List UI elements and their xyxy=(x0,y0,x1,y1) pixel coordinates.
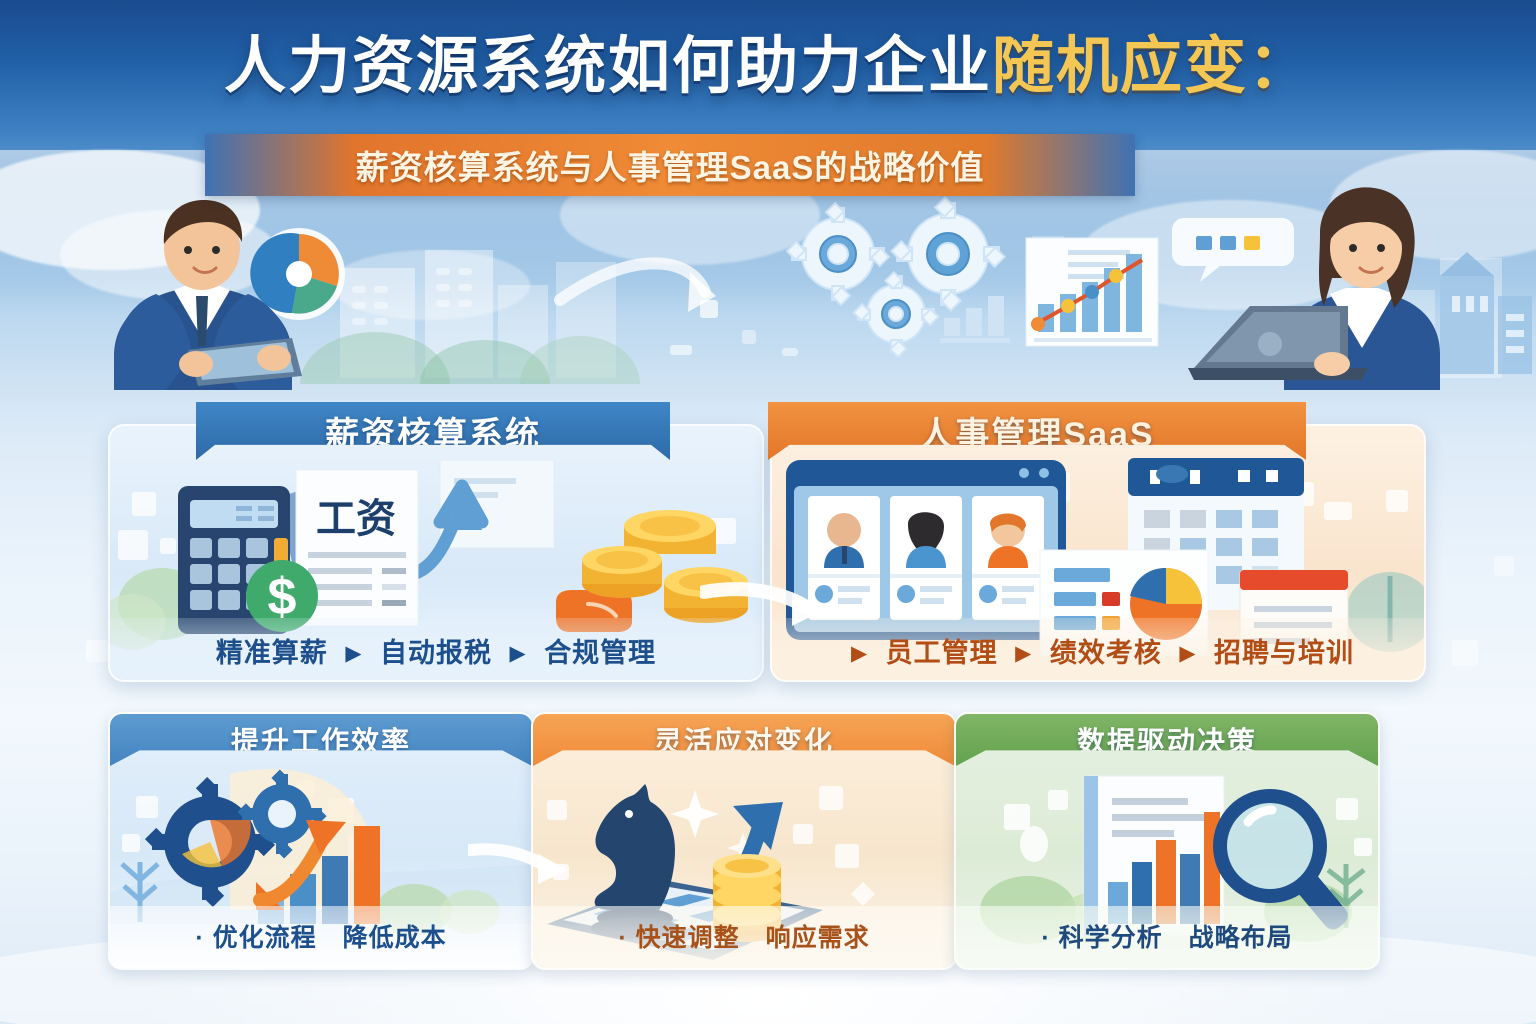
arrow-right-icon: ▶ xyxy=(1179,642,1196,665)
bottom-flow-arrow xyxy=(468,836,578,896)
hr-saas-bullet-1: 员工管理 xyxy=(886,638,998,668)
arrow-right-icon: ▶ xyxy=(510,642,527,665)
hr-saas-bullet-3: 招聘与培训 xyxy=(1214,638,1354,668)
page-title: 人力资源系统如何助力企业随机应变： xyxy=(0,34,1536,99)
cards-flow-arrow xyxy=(700,570,840,640)
card-data-driven-caption: · 科学分析 战略布局 xyxy=(956,918,1378,954)
arrow-right-icon: ▶ xyxy=(1015,642,1032,665)
card-data-driven[interactable]: 数据驱动决策 · 科学分析 战略布局 xyxy=(954,712,1380,970)
arrow-up-icon xyxy=(400,460,554,576)
card-flexibility[interactable]: 灵活应对变化 · 快速调整 响应需求 xyxy=(531,712,957,970)
subtitle-banner: 薪资核算系统与人事管理SaaS的战略价值 xyxy=(205,134,1135,196)
page-title-highlight: 随机应变： xyxy=(992,32,1312,101)
payroll-bullet-3: 合规管理 xyxy=(544,638,656,668)
businesswoman-with-laptop xyxy=(1172,178,1536,390)
payroll-bullet-1: 精准算薪 xyxy=(216,638,328,668)
arrow-right-icon: ▶ xyxy=(345,642,362,665)
gears-and-report-illustration xyxy=(780,196,1170,386)
card-efficiency-caption: · 优化流程 降低成本 xyxy=(110,918,532,954)
hr-saas-bullet-2: 绩效考核 xyxy=(1050,638,1162,668)
svg-text:工资: 工资 xyxy=(316,497,396,541)
payroll-bullet-2: 自动报税 xyxy=(380,638,492,668)
city-skyline-icon xyxy=(1440,252,1532,374)
page-title-main: 人力资源系统如何助力企业 xyxy=(224,32,992,101)
payroll-bullets: 精准算薪 ▶ 自动报税 ▶ 合规管理 xyxy=(110,631,762,670)
businessman-with-tablet xyxy=(96,178,456,390)
card-flexibility-caption: · 快速调整 响应需求 xyxy=(533,918,955,954)
growth-chart-report-icon xyxy=(1026,236,1158,346)
speech-bubble-icon xyxy=(1172,218,1294,282)
arrow-right-icon: ▶ xyxy=(851,642,868,665)
title-block: 人力资源系统如何助力企业随机应变： xyxy=(0,34,1536,99)
subtitle-text: 薪资核算系统与人事管理SaaS的战略价值 xyxy=(356,141,985,189)
infographic-poster: 人力资源系统如何助力企业随机应变： 薪资核算系统与人事管理SaaS的战略价值 xyxy=(0,0,1536,1024)
hr-saas-bullets: ▶ 员工管理 ▶ 绩效考核 ▶ 招聘与培训 xyxy=(772,631,1424,670)
card-hr-saas[interactable]: ▶ 员工管理 ▶ 绩效考核 ▶ 招聘与培训 xyxy=(770,424,1426,682)
card-payroll[interactable]: 工资 $ xyxy=(108,424,764,682)
